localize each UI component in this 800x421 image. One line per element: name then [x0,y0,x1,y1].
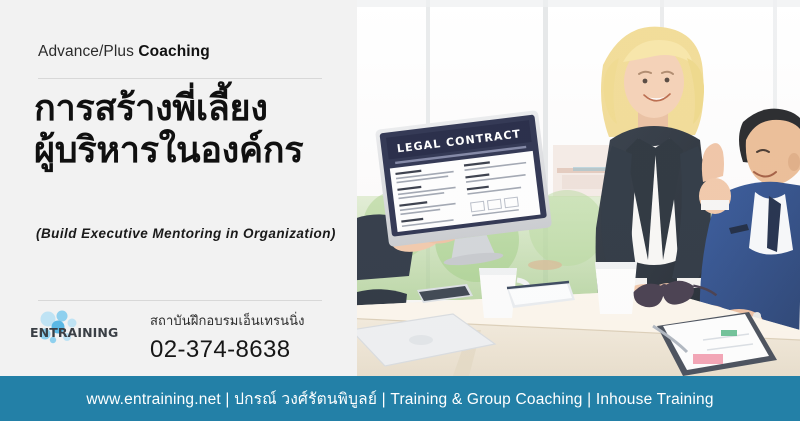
phone-number[interactable]: 02-374-8638 [150,336,305,364]
headline-line-1: การสร้างพี่เลี้ยง [34,88,354,130]
meeting-photo-illustration: LEGAL CONTRACT [357,0,800,376]
page-title: การสร้างพี่เลี้ยง ผู้บริหารในองค์กร [34,88,354,173]
footer-links-text[interactable]: www.entraining.net | ปกรณ์ วงศ์รัตนพิบูล… [86,386,713,411]
entraining-logo: ENTRAINING [28,310,132,352]
left-text-panel: Advance/Plus Coaching การสร้างพี่เลี้ยง … [0,0,357,376]
meeting-photo: LEGAL CONTRACT [357,0,800,376]
divider-top [38,78,322,79]
divider-bottom [38,300,322,301]
logo-wordmark: ENTRAINING [30,325,118,340]
subtitle-english: (Build Executive Mentoring in Organizati… [36,226,336,241]
eyebrow-plain-text: Advance/Plus [38,43,138,60]
footer-bar: www.entraining.net | ปกรณ์ วงศ์รัตนพิบูล… [0,376,800,421]
eyebrow-strong-text: Coaching [138,43,209,60]
contact-block: สถาบันฝึกอบรมเอ็นเทรนนิ่ง 02-374-8638 [150,310,305,364]
headline-line-2: ผู้บริหารในองค์กร [34,130,354,172]
eyebrow-label: Advance/Plus Coaching [38,43,210,61]
course-banner: Advance/Plus Coaching การสร้างพี่เลี้ยง … [0,0,800,421]
organization-name: สถาบันฝึกอบรมเอ็นเทรนนิ่ง [150,310,305,331]
